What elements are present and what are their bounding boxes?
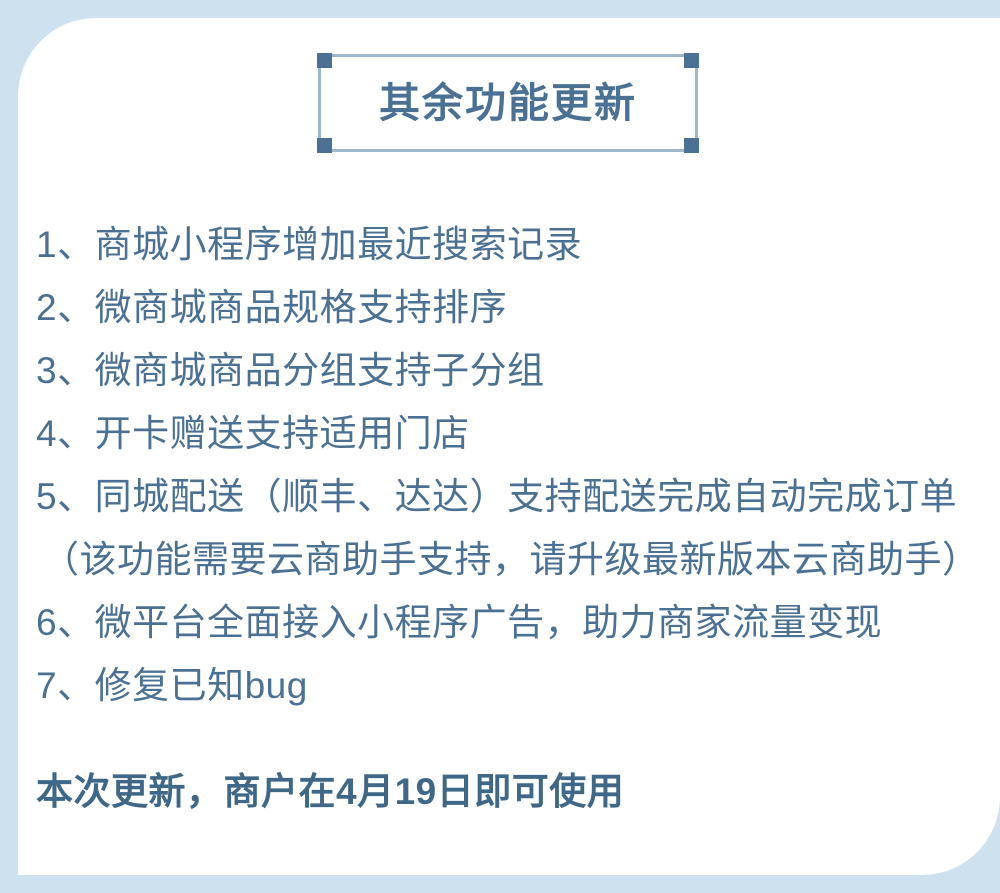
announcement-card: 其余功能更新 1、商城小程序增加最近搜索记录 2、微商城商品规格支持排序 3、微… bbox=[18, 18, 1000, 875]
list-item: 2、微商城商品规格支持排序 bbox=[36, 276, 980, 339]
list-item: 4、开卡赠送支持适用门店 bbox=[36, 402, 980, 465]
heading-block: 其余功能更新 bbox=[318, 54, 698, 152]
list-item: 7、修复已知bug bbox=[36, 654, 980, 717]
list-item: 6、微平台全面接入小程序广告，助力商家流量变现 bbox=[36, 591, 980, 654]
update-list: 1、商城小程序增加最近搜索记录 2、微商城商品规格支持排序 3、微商城商品分组支… bbox=[36, 213, 980, 817]
availability-note: 本次更新，商户在4月19日即可使用 bbox=[36, 767, 980, 817]
list-item: 1、商城小程序增加最近搜索记录 bbox=[36, 213, 980, 276]
page-title: 其余功能更新 bbox=[318, 54, 698, 152]
list-item: 5、同城配送（顺丰、达达）支持配送完成自动完成订单 bbox=[36, 465, 980, 528]
announcement-page: 其余功能更新 1、商城小程序增加最近搜索记录 2、微商城商品规格支持排序 3、微… bbox=[0, 0, 1000, 893]
list-item: 3、微商城商品分组支持子分组 bbox=[36, 339, 980, 402]
list-item-note: （该功能需要云商助手支持，请升级最新版本云商助手） bbox=[36, 528, 980, 591]
list-footer-spacer bbox=[36, 717, 980, 767]
